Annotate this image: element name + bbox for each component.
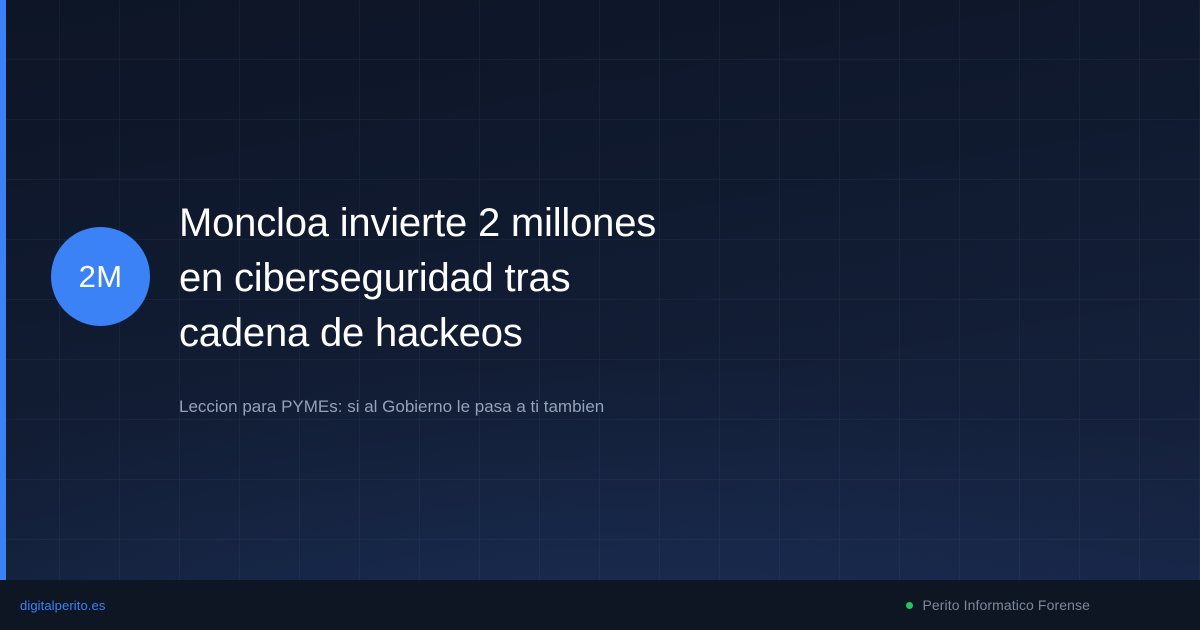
card-content: 2M Moncloa invierte 2 millones en cibers… <box>0 0 1200 580</box>
footer-tagline: Perito Informatico Forense <box>922 597 1090 613</box>
card-footer: digitalperito.es Perito Informatico Fore… <box>0 580 1200 630</box>
page-title: Moncloa invierte 2 millones en cibersegu… <box>179 196 699 361</box>
page-subtitle: Leccion para PYMEs: si al Gobierno le pa… <box>179 361 699 419</box>
amount-badge-label: 2M <box>79 261 123 292</box>
headline-block: Moncloa invierte 2 millones en cibersegu… <box>179 196 699 419</box>
footer-tagline-group: Perito Informatico Forense <box>906 597 1180 613</box>
footer-site-link[interactable]: digitalperito.es <box>20 598 105 613</box>
online-status-dot <box>906 602 913 609</box>
amount-badge: 2M <box>51 227 150 326</box>
social-share-card: 2M Moncloa invierte 2 millones en cibers… <box>0 0 1200 630</box>
